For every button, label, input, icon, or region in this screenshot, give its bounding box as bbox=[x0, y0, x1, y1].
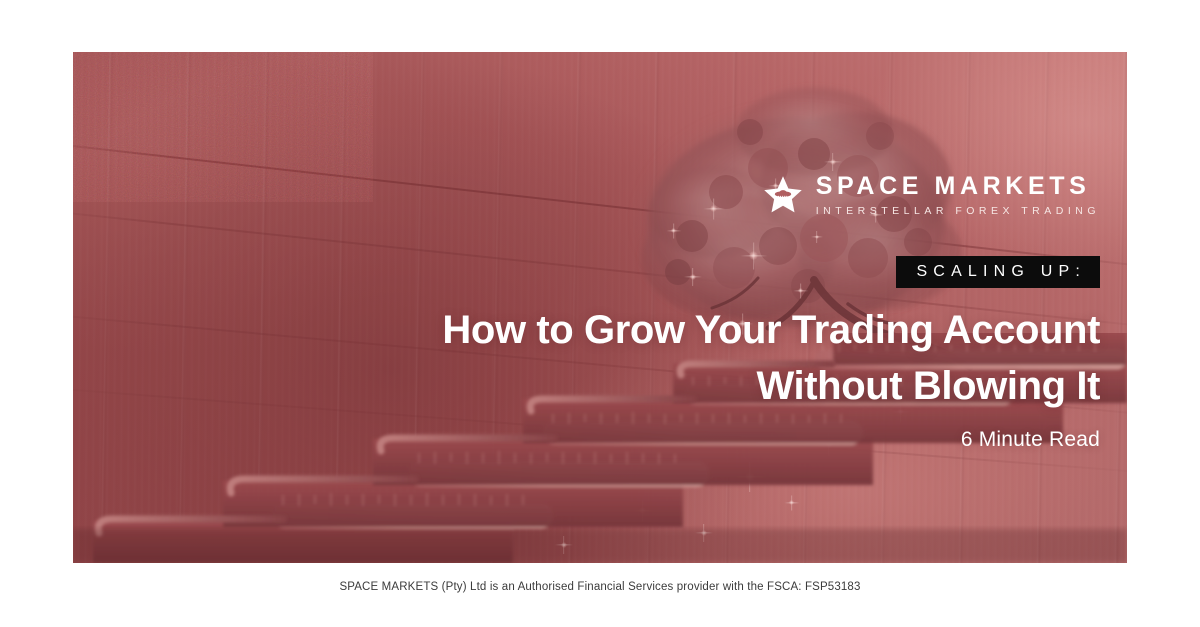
headline-line-2: Without Blowing It bbox=[400, 361, 1100, 411]
eyebrow-badge: SCALING UP: bbox=[896, 256, 1100, 288]
brand-lockup: SPACE MARKETS INTERSTELLAR FOREX TRADING bbox=[400, 174, 1100, 217]
read-time-label: 6 Minute Read bbox=[400, 428, 1100, 452]
brand-tagline: INTERSTELLAR FOREX TRADING bbox=[816, 206, 1100, 217]
brand-text: SPACE MARKETS INTERSTELLAR FOREX TRADING bbox=[816, 174, 1100, 217]
hero-banner: SPACE MARKETS INTERSTELLAR FOREX TRADING… bbox=[73, 52, 1127, 563]
page-root: SPACE MARKETS INTERSTELLAR FOREX TRADING… bbox=[0, 0, 1200, 627]
headline-line-1: How to Grow Your Trading Account bbox=[400, 305, 1100, 355]
grain-overlay bbox=[73, 52, 373, 202]
hero-content: SPACE MARKETS INTERSTELLAR FOREX TRADING… bbox=[400, 174, 1100, 452]
brand-name: SPACE MARKETS bbox=[816, 174, 1091, 199]
star-ufo-icon bbox=[763, 175, 803, 215]
eyebrow-row: SCALING UP: bbox=[400, 256, 1100, 288]
legal-disclaimer: SPACE MARKETS (Pty) Ltd is an Authorised… bbox=[0, 581, 1200, 593]
